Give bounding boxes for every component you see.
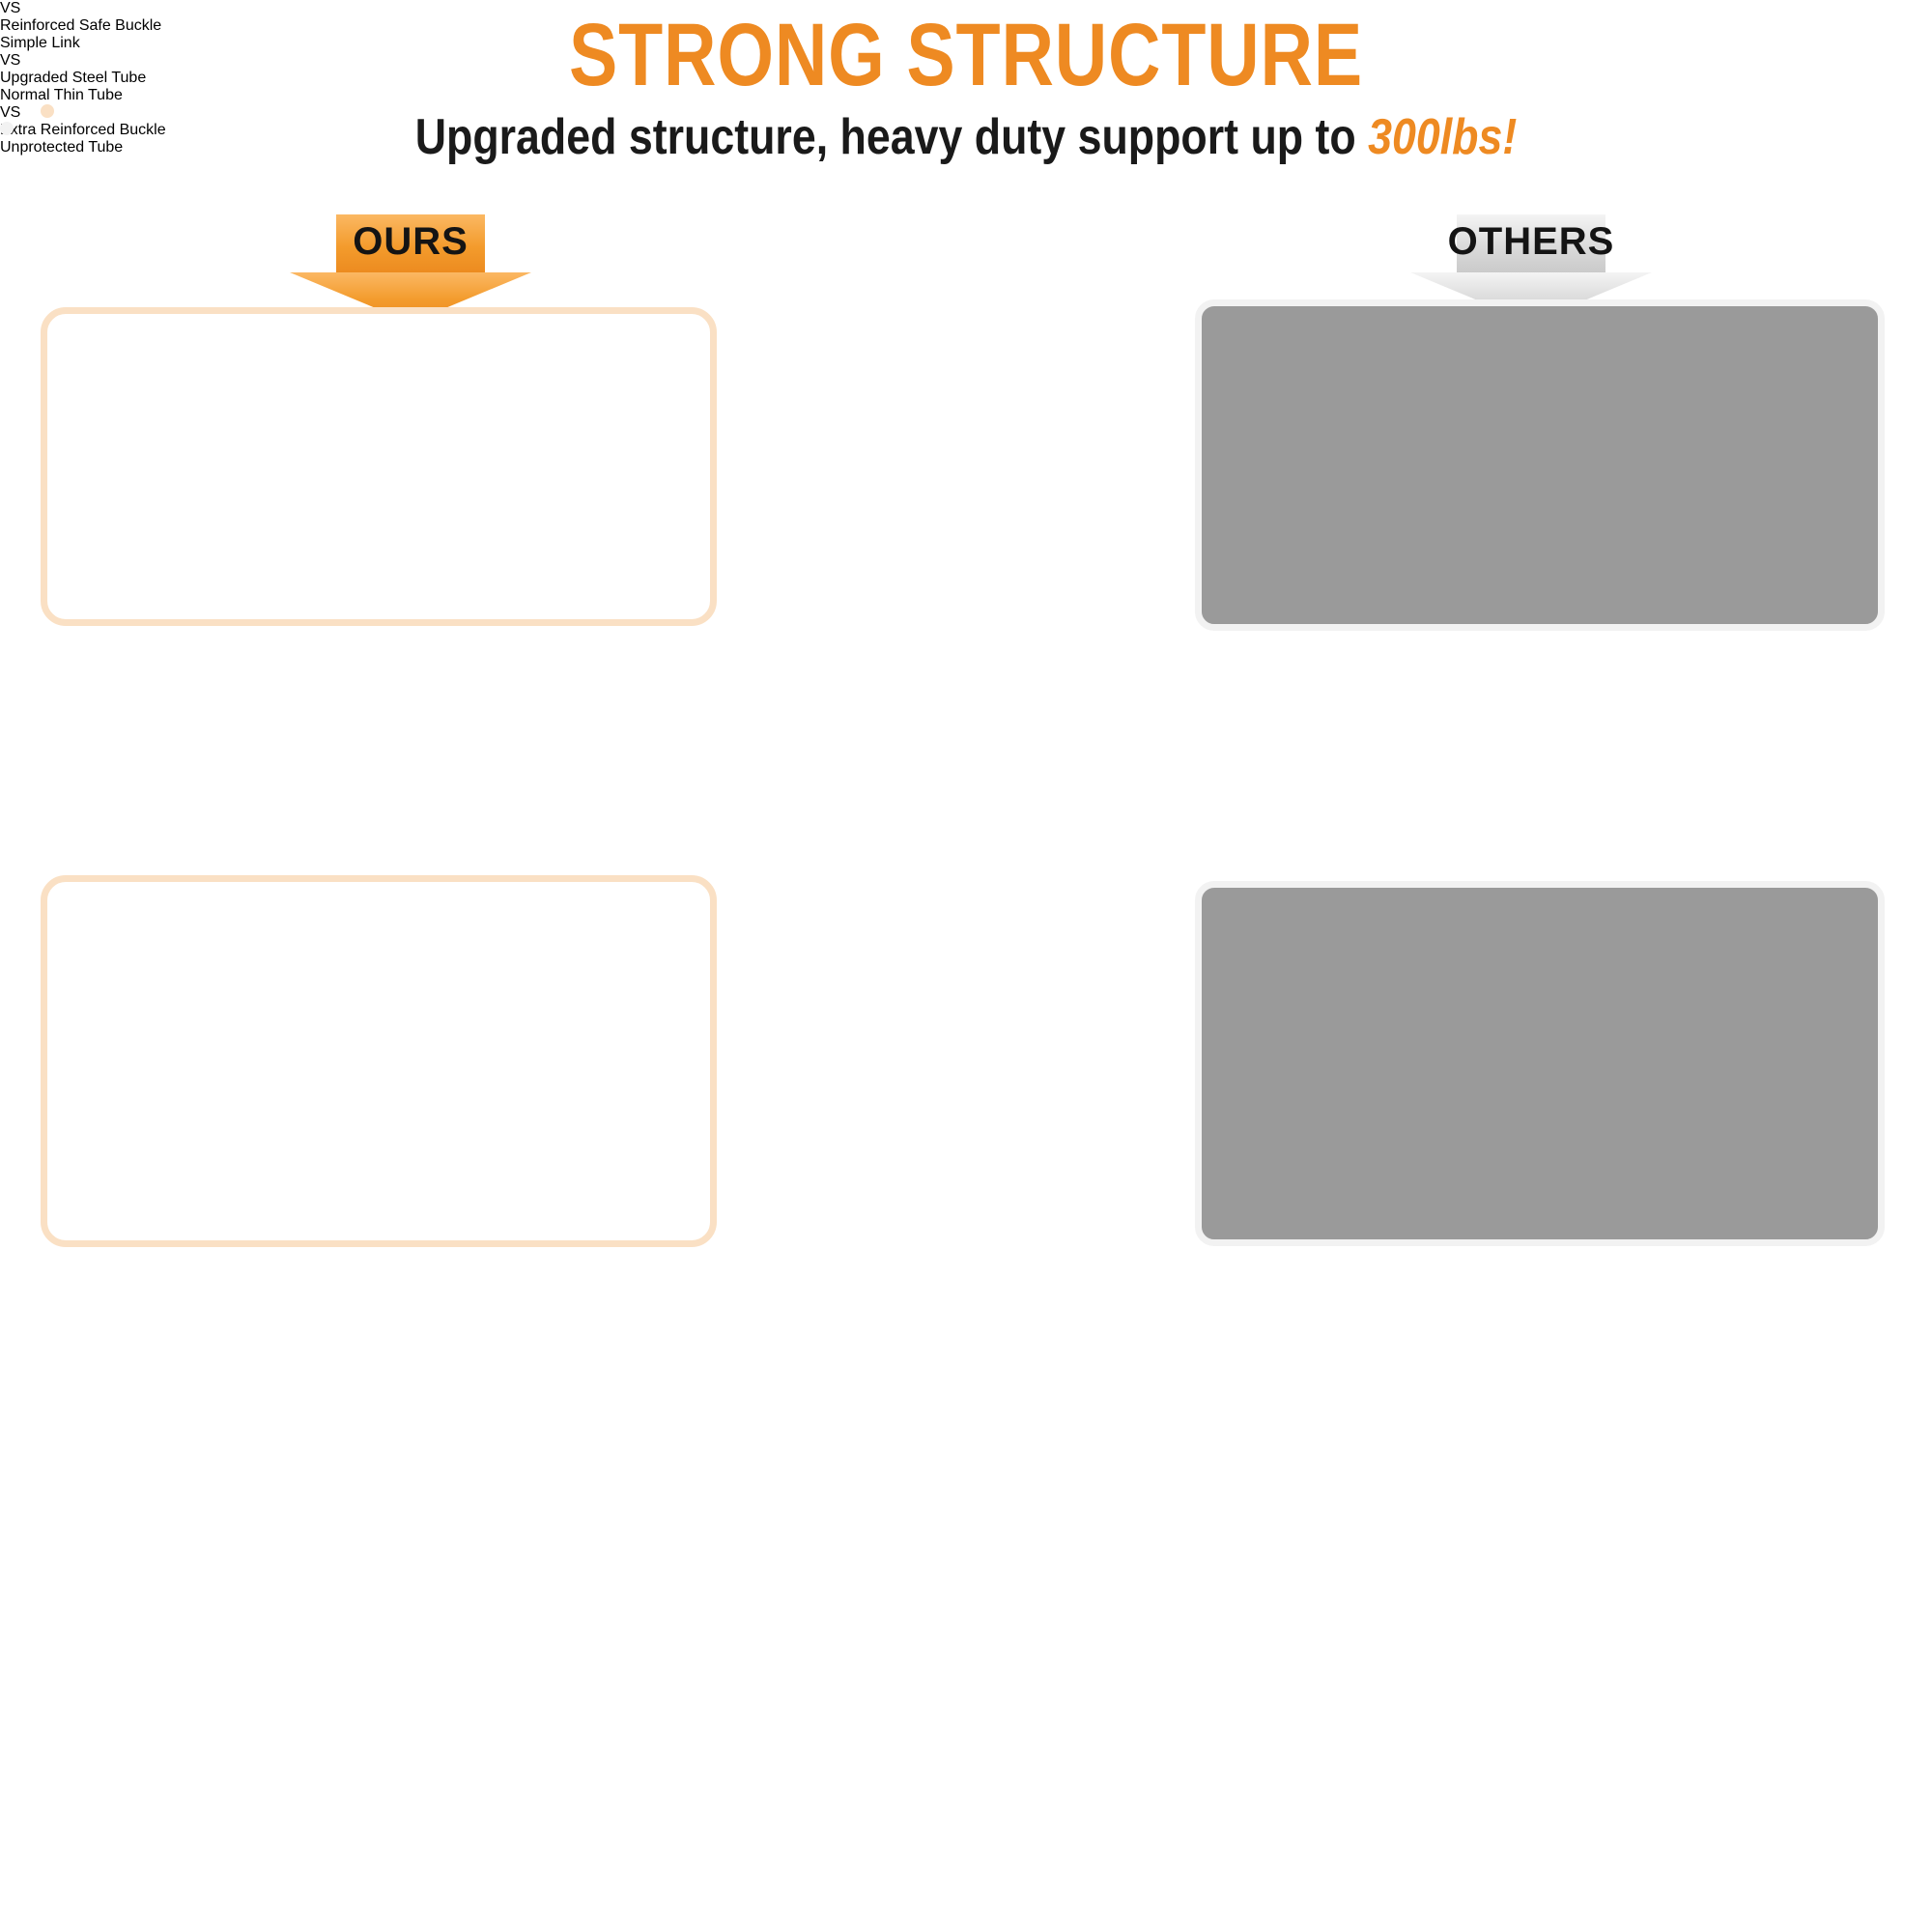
- ours-photo-panel-row3: [41, 104, 54, 118]
- subtitle: Upgraded structure, heavy duty support u…: [135, 108, 1797, 166]
- header: STRONG STRUCTURE Upgraded structure, hea…: [0, 0, 1932, 193]
- ours-label: OURS: [290, 220, 531, 264]
- ours-photo-panel-row2: [41, 875, 717, 1247]
- page-title: STRONG STRUCTURE: [174, 5, 1758, 106]
- photo-row1-others: [1202, 306, 1878, 624]
- subtitle-highlight: 300lbs!: [1368, 109, 1517, 165]
- others-photo-panel-row1: [1195, 299, 1885, 631]
- infographic-root: STRONG STRUCTURE Upgraded structure, hea…: [0, 0, 1932, 1932]
- ours-photo-panel-row1: [41, 307, 717, 626]
- subtitle-text: Upgraded structure, heavy duty support u…: [415, 109, 1368, 165]
- photo-row1-ours: [47, 314, 710, 619]
- others-photo-panel-row3: [0, 122, 14, 135]
- others-label: OTHERS: [1410, 220, 1652, 264]
- photo-row2-others: [1202, 888, 1878, 1239]
- photo-row2-ours: [47, 882, 710, 1240]
- others-photo-panel-row2: [1195, 881, 1885, 1246]
